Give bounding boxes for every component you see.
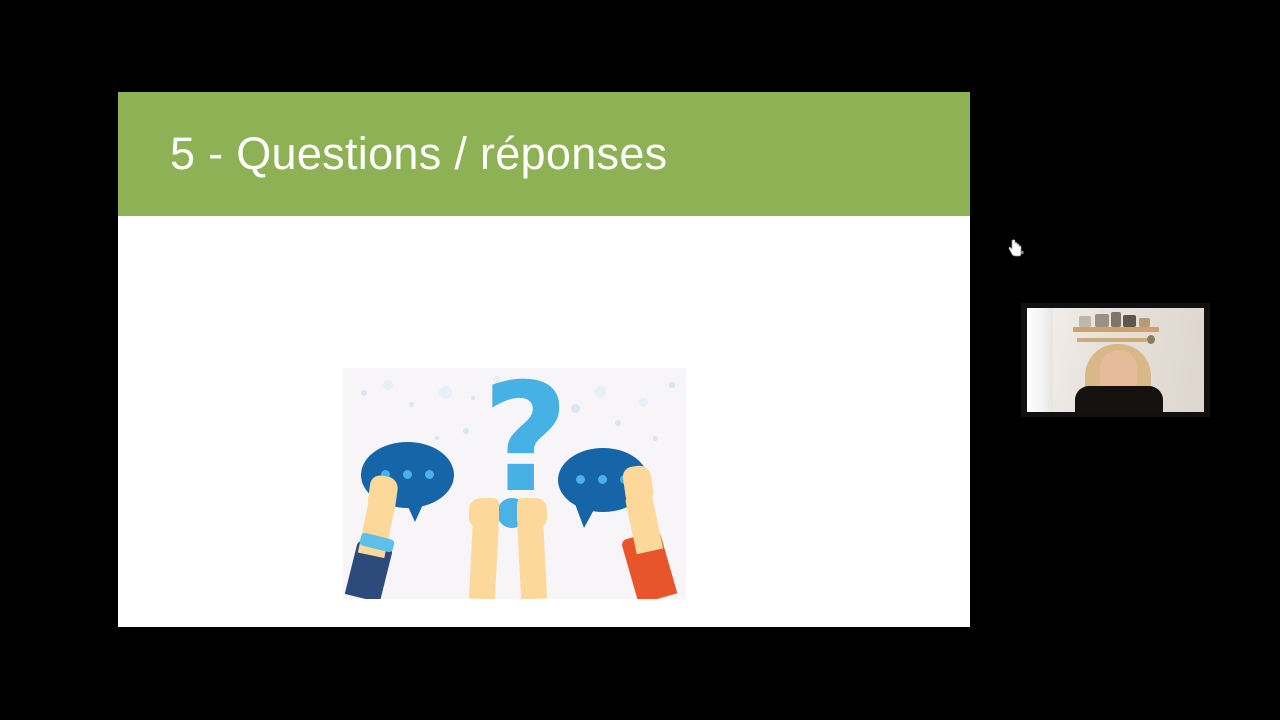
slide-content-area: ? bbox=[118, 216, 970, 627]
shelf-object bbox=[1139, 318, 1150, 327]
confetti-dot bbox=[571, 404, 580, 413]
webcam-video-feed bbox=[1027, 308, 1204, 412]
confetti-dot bbox=[669, 382, 675, 388]
confetti-dot bbox=[383, 380, 393, 390]
confetti-dot bbox=[595, 386, 606, 397]
bubble-dot bbox=[403, 470, 412, 479]
confetti-dot bbox=[409, 402, 414, 407]
confetti-dot bbox=[471, 396, 475, 400]
shelf-object bbox=[1147, 335, 1155, 344]
cursor-glyph bbox=[1008, 239, 1026, 259]
shelf-object bbox=[1111, 312, 1121, 327]
confetti-dot bbox=[653, 436, 658, 441]
questions-illustration: ? bbox=[343, 368, 686, 599]
webcam-wall-shelf bbox=[1073, 327, 1159, 332]
confetti-dot bbox=[463, 428, 469, 434]
shelf-object bbox=[1123, 315, 1136, 327]
bubble-dot bbox=[598, 475, 607, 484]
left-hand bbox=[367, 474, 399, 512]
confetti-dot bbox=[615, 420, 621, 426]
presentation-slide[interactable]: 5 - Questions / réponses bbox=[118, 92, 970, 627]
confetti-dot bbox=[439, 386, 452, 399]
presenter-webcam-thumbnail[interactable] bbox=[1021, 303, 1210, 417]
shelf-object bbox=[1095, 314, 1109, 327]
bubble-dot bbox=[425, 470, 434, 479]
middle-left-hand bbox=[469, 498, 499, 528]
pointer-hand-cursor bbox=[1008, 239, 1026, 259]
slide-title: 5 - Questions / réponses bbox=[170, 128, 667, 180]
right-hand bbox=[622, 464, 655, 504]
webcam-window-light bbox=[1027, 308, 1053, 412]
webcam-person-top bbox=[1075, 386, 1163, 412]
confetti-dot bbox=[435, 436, 439, 440]
middle-right-hand bbox=[517, 498, 547, 528]
webcam-wall-shelf-lower bbox=[1077, 338, 1147, 342]
shelf-object bbox=[1079, 316, 1091, 327]
question-mark-icon: ? bbox=[482, 384, 558, 494]
bubble-dot bbox=[576, 475, 585, 484]
screen-recording-frame: 5 - Questions / réponses bbox=[0, 0, 1280, 720]
confetti-dot bbox=[361, 390, 367, 396]
confetti-dot bbox=[639, 398, 648, 407]
